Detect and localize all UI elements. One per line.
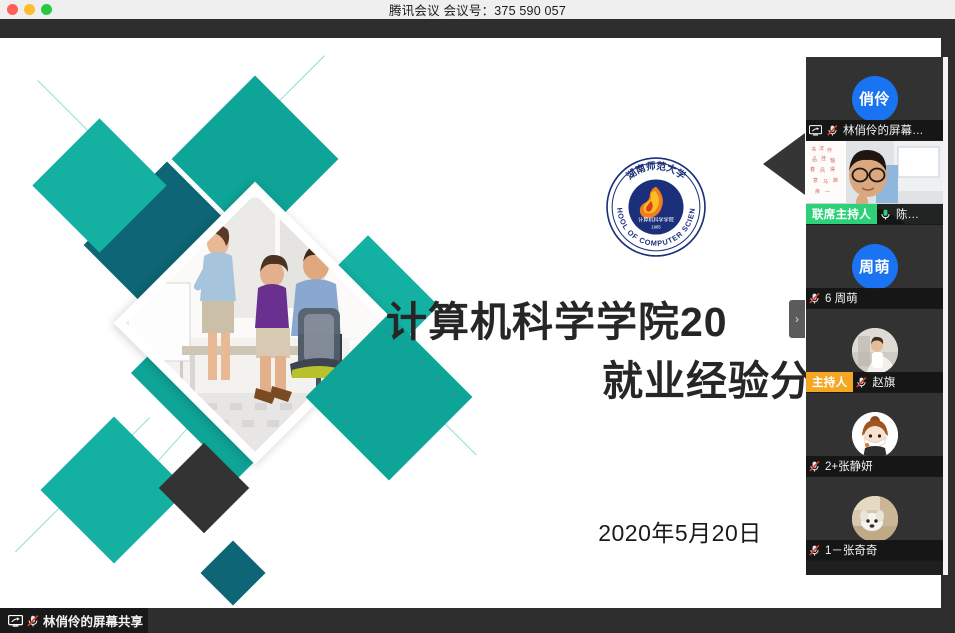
participant-namebar: 林俏伶的屏幕… [806,120,943,140]
slide-date: 2020年5月20日 [560,514,800,548]
participant-tile[interactable]: 主持人 赵旗 [806,309,943,393]
university-seal-logo: 湖南师范大学 SCHOOL OF COMPUTER SCIENCE 计算机科学学… [605,156,707,258]
svg-text:书: 书 [811,146,816,153]
svg-text:蹄: 蹄 [833,177,838,184]
svg-text:得: 得 [830,166,835,173]
svg-text:品: 品 [812,157,817,163]
decor-diamond-dark [200,540,265,605]
svg-text:意: 意 [813,177,818,184]
window-controls [7,0,52,19]
participant-namebar: 6 周萌 [806,288,943,308]
slide-title-line2: 就业经验分享 [386,352,856,411]
participant-name: 6 周萌 [823,290,862,306]
participant-tile[interactable]: 1－张奇奇 [806,477,943,561]
avatar: 周萌 [852,244,898,290]
close-window-button[interactable] [7,4,18,15]
host-badge: 主持人 [806,372,853,392]
mic-muted-icon [806,288,823,308]
cohost-badge: 联席主持人 [806,204,877,224]
participant-namebar: 2+张静妍 [806,456,943,476]
svg-text:作: 作 [827,147,832,154]
mic-muted-icon [24,611,41,631]
avatar [852,328,898,374]
avatar [852,496,898,542]
avatar [852,412,898,458]
screen-share-status-bar: 林俏伶的屏幕共享 [0,608,148,633]
collapse-panel-button[interactable]: › [789,300,805,338]
svg-text:一: 一 [825,191,830,196]
mic-muted-icon [806,456,823,476]
maximize-window-button[interactable] [41,4,52,15]
svg-text:风: 风 [820,168,825,174]
minimize-window-button[interactable] [24,4,35,15]
mic-muted-icon [824,120,841,140]
participant-name: 赵旗 [870,374,899,390]
svg-text:挂: 挂 [821,155,826,162]
svg-text:春: 春 [810,166,815,173]
screen-share-icon [6,611,24,631]
participant-filmstrip[interactable]: 俏伶 [806,57,943,575]
svg-text:1985: 1985 [651,224,661,229]
avatar: 俏伶 [852,76,898,122]
participant-name: 2+张静妍 [823,458,877,474]
participant-tile[interactable]: 周萌 6 周萌 [806,225,943,309]
window-title: 腾讯会议 会议号：375 590 057 [0,0,955,19]
share-status-label: 林俏伶的屏幕共享 [41,611,147,630]
participant-name: 陈… [894,206,923,222]
participant-tile[interactable]: 俏伶 [806,57,943,141]
participant-name: 1－张奇奇 [823,542,881,558]
mic-active-icon [877,204,894,224]
participant-tile[interactable]: 2+张静妍 [806,393,943,477]
mic-muted-icon [853,372,870,392]
svg-text:法: 法 [819,145,824,152]
slide-title-line1: 计算机科学学院20 [386,299,728,345]
participant-namebar: 主持人 赵旗 [806,372,943,392]
pointer-triangle [763,133,805,195]
svg-text:计算机科学学院: 计算机科学学院 [638,216,674,223]
svg-text:疾: 疾 [815,188,820,195]
meeting-window: 腾讯会议 会议号：375 590 057 [0,0,955,633]
participant-namebar: 联席主持人 陈… [806,204,943,224]
svg-text:马: 马 [823,178,828,185]
screen-share-icon [806,120,824,140]
mic-muted-icon [806,540,823,560]
participant-tile[interactable]: 书法作 品挂轴 春风得 意马蹄 疾一 [806,141,943,225]
svg-text:轴: 轴 [830,157,835,164]
title-bar: 腾讯会议 会议号：375 590 057 [0,0,955,19]
slide-title: 计算机科学学院20 就业经验分享 [386,293,856,412]
participant-namebar: 1－张奇奇 [806,540,943,560]
participant-name: 林俏伶的屏幕… [841,122,928,138]
